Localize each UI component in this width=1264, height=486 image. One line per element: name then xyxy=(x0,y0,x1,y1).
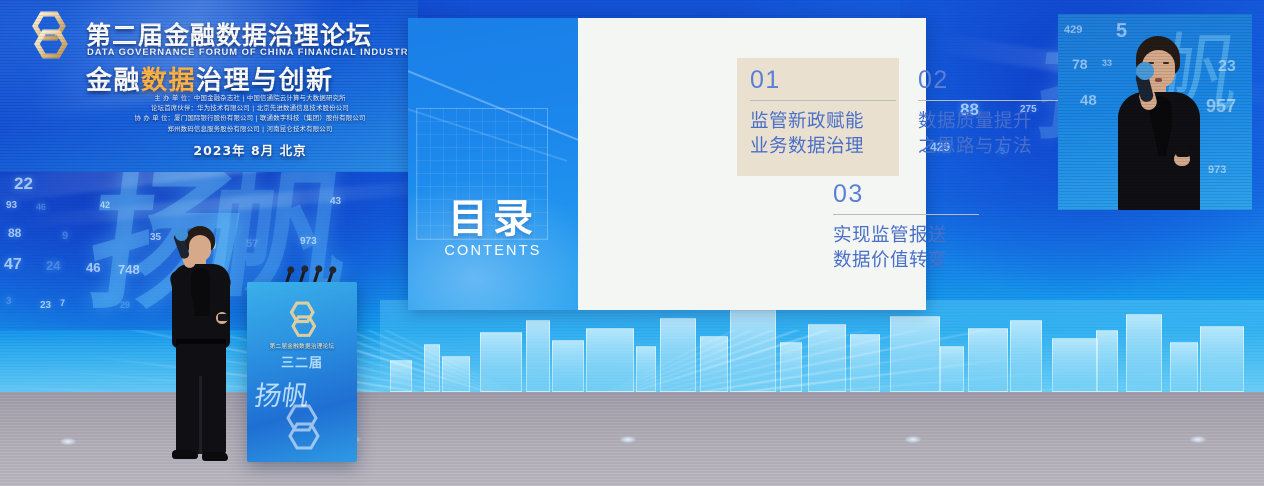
background-number: 88 xyxy=(8,226,21,240)
podium-title-text: 第二届金融数据治理论坛 xyxy=(247,342,357,350)
slide-right-panel: 01 监管新政赋能 业务数据治理 02 数据质量提升 之思路与方法 03 实现监… xyxy=(578,18,926,310)
organizer-line: 协 办 单 位：厦门国际银行股份有限公司 | 联通数字科技（集团）股份有限公司 xyxy=(100,113,400,123)
forum-logo-icon xyxy=(22,10,78,62)
background-number: 973 xyxy=(300,236,317,247)
background-number: 42 xyxy=(100,200,110,210)
background-number: 24 xyxy=(46,258,60,273)
slide-item-text-line1: 监管新政赋能 xyxy=(750,109,896,134)
slide-toc-title-en: CONTENTS xyxy=(408,243,578,259)
background-number: 43 xyxy=(330,196,341,207)
background-number: 46 xyxy=(86,260,100,275)
podium-logo-icon xyxy=(281,300,325,340)
background-number: 748 xyxy=(118,262,140,277)
slide-item-text-line1: 实现监管报送 xyxy=(833,223,979,248)
background-number: 93 xyxy=(6,200,17,211)
banner-title-cn: 第二届金融数据治理论坛 xyxy=(86,16,372,52)
slide-toc-title-cn: 目录 xyxy=(408,186,578,244)
subtitle-prefix: 金融 xyxy=(86,66,141,96)
slide-item-text-line1: 数据质量提升 xyxy=(918,109,1064,134)
slide-item-rule xyxy=(918,100,1064,101)
organizer-line: 主 办 单 位：中国金融杂志社 | 中国信通院云计算与大数据研究所 xyxy=(100,93,400,103)
podium-big-text: 三二届 xyxy=(247,352,357,371)
background-number: 23 xyxy=(40,300,51,311)
slide-item-text-line2: 数据价值转变 xyxy=(833,248,979,273)
slide-item-rule xyxy=(833,214,979,215)
banner-date-location: 2023年 8月 北京 xyxy=(100,140,400,159)
subtitle-highlight: 数据 xyxy=(141,66,196,96)
slide-item-01: 01 监管新政赋能 业务数据治理 xyxy=(750,68,896,159)
slide-item-03: 03 实现监管报送 数据价值转变 xyxy=(833,182,979,273)
banner-subtitle: 金融数据治理与创新 xyxy=(86,60,334,97)
background-number: 22 xyxy=(14,174,33,194)
slide-item-number: 01 xyxy=(750,68,896,93)
closeup-microphone-icon xyxy=(1136,62,1154,80)
organizer-line: 郑州数码信息服务股份有限公司 | 河南昆仑技术有限公司 xyxy=(100,124,400,134)
background-number: 46 xyxy=(36,202,46,212)
banner-title-en: DATA GOVERNANCE FORUM OF CHINA FINANCIAL… xyxy=(87,46,415,57)
background-number: 9 xyxy=(62,230,68,242)
stage-speaker xyxy=(150,226,260,470)
background-number: 7 xyxy=(60,298,65,308)
slide-item-text-line2: 之思路与方法 xyxy=(918,134,1064,159)
speaker-closeup-inset: 429 5 78 33 23 48 957 973 帆 xyxy=(1058,14,1252,210)
slide-left-panel: 目录 CONTENTS xyxy=(408,18,578,310)
background-number: 3 xyxy=(6,296,12,307)
banner-sheen xyxy=(0,0,418,126)
subtitle-suffix: 治理与创新 xyxy=(196,66,334,96)
slide-grid-decoration xyxy=(416,108,548,240)
presenter-clicker xyxy=(218,314,228,321)
background-number: 29 xyxy=(120,300,130,310)
slide-item-number: 02 xyxy=(918,68,1064,93)
speaker-podium: 第二届金融数据治理论坛 三二届 扬帆 xyxy=(247,282,357,462)
conference-stage-photo: 扬 帆 扬 帆 81964371768323154202812293464288… xyxy=(0,0,1264,486)
forum-banner: 第二届金融数据治理论坛 DATA GOVERNANCE FORUM OF CHI… xyxy=(0,0,418,172)
background-number: 47 xyxy=(4,256,22,274)
banner-organizers: 主 办 单 位：中国金融杂志社 | 中国信通院云计算与大数据研究所 论坛首席伙伴… xyxy=(100,93,400,134)
slide-item-text-line2: 业务数据治理 xyxy=(750,134,896,159)
organizer-line: 论坛首席伙伴：华为技术有限公司 | 北京先进数通信息技术股份公司 xyxy=(100,103,400,113)
slide-item-rule xyxy=(750,100,896,101)
presentation-slide: 目录 CONTENTS 01 监管新政赋能 业务数据治理 02 数据质量提升 之… xyxy=(408,18,926,310)
slide-item-02: 02 数据质量提升 之思路与方法 xyxy=(918,68,1064,159)
slide-item-number: 03 xyxy=(833,182,979,207)
podium-watermark-logo-icon xyxy=(275,402,331,454)
